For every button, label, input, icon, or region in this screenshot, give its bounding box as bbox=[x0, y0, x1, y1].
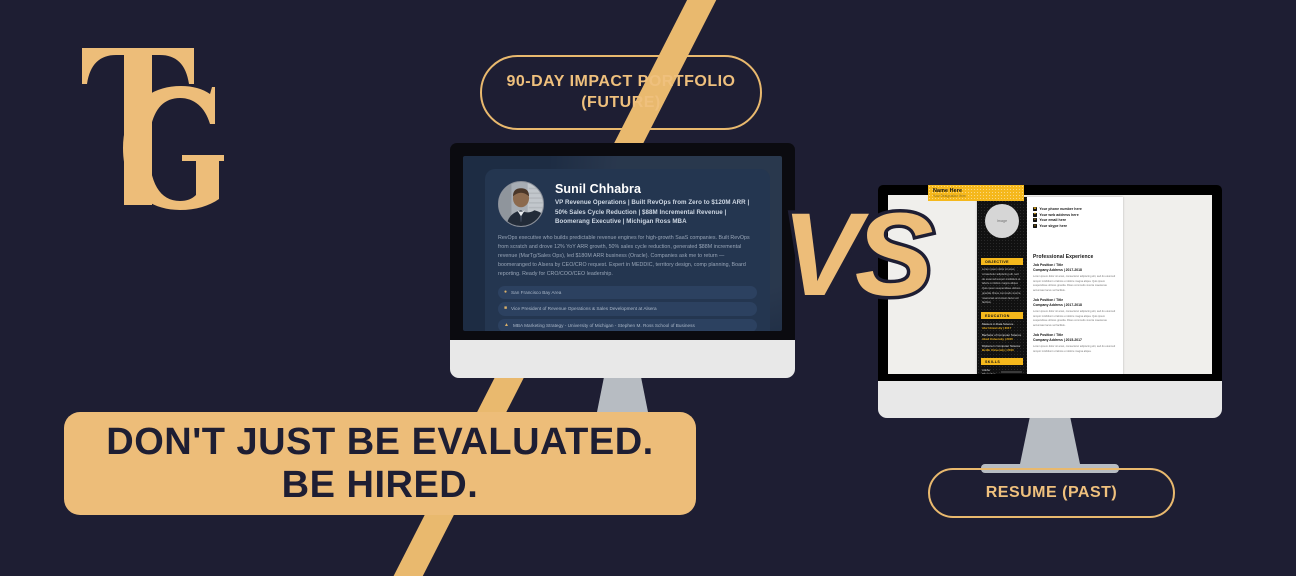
portfolio-profile-card: Sunil Chhabra VP Revenue Operations | Bu… bbox=[485, 169, 770, 331]
graduation-cap-icon: ▲ bbox=[504, 322, 509, 330]
poster-canvas: 90-DAY IMPACT PORTFOLIO (FUTURE) RESUME … bbox=[0, 0, 1296, 576]
list-item[interactable]: ▲ MBA Marketing Strategy - University of… bbox=[498, 319, 757, 331]
resume-designation: Your Designation Here bbox=[977, 197, 1024, 198]
list-item: ☎ Your phone number here bbox=[1033, 207, 1118, 211]
resume-skills-heading: SKILLS bbox=[981, 358, 1023, 365]
skill-label: Adobe Photoshop bbox=[982, 368, 999, 374]
monitor-portfolio-chin bbox=[450, 340, 795, 378]
list-item: Diploma in Computer Science Bcdfe Univer… bbox=[977, 344, 1027, 352]
badge-future-portfolio[interactable]: 90-DAY IMPACT PORTFOLIO (FUTURE) bbox=[480, 55, 762, 130]
monitor-resume-bezel: Image OBJECTIVE Lorem ipsum dolor sit am… bbox=[878, 185, 1222, 381]
monitor-portfolio[interactable]: Sunil Chhabra VP Revenue Operations | Bu… bbox=[450, 143, 795, 431]
badge-past-resume[interactable]: RESUME (PAST) bbox=[928, 468, 1175, 518]
monitor-portfolio-bezel: Sunil Chhabra VP Revenue Operations | Bu… bbox=[450, 143, 795, 340]
resume-name-band: Name Here Your Designation Here bbox=[977, 197, 1024, 201]
list-item: Job Position / Title Company Address | 2… bbox=[1033, 333, 1118, 354]
list-item: Adobe Photoshop bbox=[977, 368, 1027, 374]
resume-experience-heading: Professional Experience bbox=[1033, 254, 1118, 260]
experience-body: Lorem ipsum dolor sit amet, consectetur … bbox=[1033, 345, 1118, 354]
list-item: Job Position / Title Company Address | 2… bbox=[1033, 263, 1118, 293]
education-school: Abc University | 2017 bbox=[982, 326, 1022, 330]
portfolio-detail-chips: ● San Francisco Bay Area ■ Vice Presiden… bbox=[498, 286, 757, 331]
envelope-icon: ✉ bbox=[1033, 218, 1037, 222]
monitor-resume-screen: Image OBJECTIVE Lorem ipsum dolor sit am… bbox=[888, 195, 1212, 374]
resume-objective-heading: OBJECTIVE bbox=[981, 258, 1023, 265]
resume-contact-list: ☎ Your phone number here ◉ Your web addr… bbox=[1033, 202, 1118, 228]
resume-right-column: ☎ Your phone number here ◉ Your web addr… bbox=[1027, 197, 1123, 374]
resume-document: Image OBJECTIVE Lorem ipsum dolor sit am… bbox=[977, 197, 1123, 374]
education-school: Bcdfe University | 2013 bbox=[982, 348, 1022, 352]
resume-photo-placeholder: Image bbox=[985, 204, 1019, 238]
experience-company: Company Address | 2015-2017 bbox=[1033, 338, 1118, 343]
headline-banner: DON'T JUST BE EVALUATED. BE HIRED. bbox=[64, 412, 696, 515]
tg-logo bbox=[74, 38, 224, 223]
experience-company: Company Address | 2017-2018 bbox=[1033, 303, 1118, 308]
contact-text: Your skype here bbox=[1039, 224, 1067, 228]
skype-icon: ◎ bbox=[1033, 224, 1037, 228]
portfolio-name: Sunil Chhabra bbox=[555, 182, 757, 196]
portfolio-header: Sunil Chhabra VP Revenue Operations | Bu… bbox=[498, 181, 757, 227]
monitor-resume-chin bbox=[878, 381, 1222, 418]
list-item[interactable]: ■ Vice President of Revenue Operations &… bbox=[498, 302, 757, 316]
list-item: ◎ Your skype here bbox=[1033, 224, 1118, 228]
list-item: ◉ Your web address here bbox=[1033, 213, 1118, 217]
list-item: Job Position / Title Company Address | 2… bbox=[1033, 298, 1118, 328]
contact-text: Your phone number here bbox=[1039, 207, 1081, 211]
education-school: Abcd University | 2015 bbox=[982, 337, 1022, 341]
portfolio-headline: VP Revenue Operations | Built RevOps fro… bbox=[555, 198, 757, 227]
contact-text: Your email here bbox=[1039, 218, 1066, 222]
resume-objective-body: Lorem ipsum dolor sit amet, consectetur … bbox=[977, 268, 1027, 306]
phone-icon: ☎ bbox=[1033, 207, 1037, 211]
versus-label: VS bbox=[782, 196, 927, 314]
skill-progress-bar bbox=[1001, 371, 1022, 373]
monitor-resume[interactable]: Image OBJECTIVE Lorem ipsum dolor sit am… bbox=[878, 185, 1222, 473]
badge-future-line2: (FUTURE) bbox=[581, 94, 661, 111]
resume-left-column: Image OBJECTIVE Lorem ipsum dolor sit am… bbox=[977, 197, 1027, 374]
chip-label: San Francisco Bay Area bbox=[511, 289, 561, 296]
badge-past-label: RESUME (PAST) bbox=[986, 484, 1118, 502]
list-item: Masters in Data Science Abc University |… bbox=[977, 322, 1027, 330]
chip-label: Vice President of Revenue Operations & S… bbox=[511, 305, 657, 312]
list-item: Bachelor of Computer Science Abcd Univer… bbox=[977, 333, 1027, 341]
contact-text: Your web address here bbox=[1039, 213, 1078, 217]
experience-body: Lorem ipsum dolor sit amet, consectetur … bbox=[1033, 275, 1118, 294]
list-item: ✉ Your email here bbox=[1033, 218, 1118, 222]
location-pin-icon: ● bbox=[504, 289, 507, 297]
globe-icon: ◉ bbox=[1033, 213, 1037, 217]
chip-label: MBA Marketing Strategy - University of M… bbox=[513, 322, 695, 329]
portfolio-about: RevOps executive who builds predictable … bbox=[498, 234, 757, 280]
monitor-portfolio-screen: Sunil Chhabra VP Revenue Operations | Bu… bbox=[463, 156, 782, 331]
monitor-resume-stand-neck bbox=[1020, 418, 1080, 464]
resume-education-heading: EDUCATION bbox=[981, 312, 1023, 319]
experience-body: Lorem ipsum dolor sit amet, consectetur … bbox=[1033, 310, 1118, 329]
badge-future-line1: 90-DAY IMPACT PORTFOLIO bbox=[506, 73, 735, 90]
list-item[interactable]: ● San Francisco Bay Area bbox=[498, 286, 757, 300]
headline-line1: DON'T JUST BE EVALUATED. bbox=[106, 421, 653, 464]
briefcase-icon: ■ bbox=[504, 305, 507, 313]
headline-line2: BE HIRED. bbox=[282, 464, 479, 507]
avatar bbox=[498, 181, 544, 227]
portfolio-identity: Sunil Chhabra VP Revenue Operations | Bu… bbox=[555, 181, 757, 227]
experience-company: Company Address | 2017-2018 bbox=[1033, 268, 1118, 273]
